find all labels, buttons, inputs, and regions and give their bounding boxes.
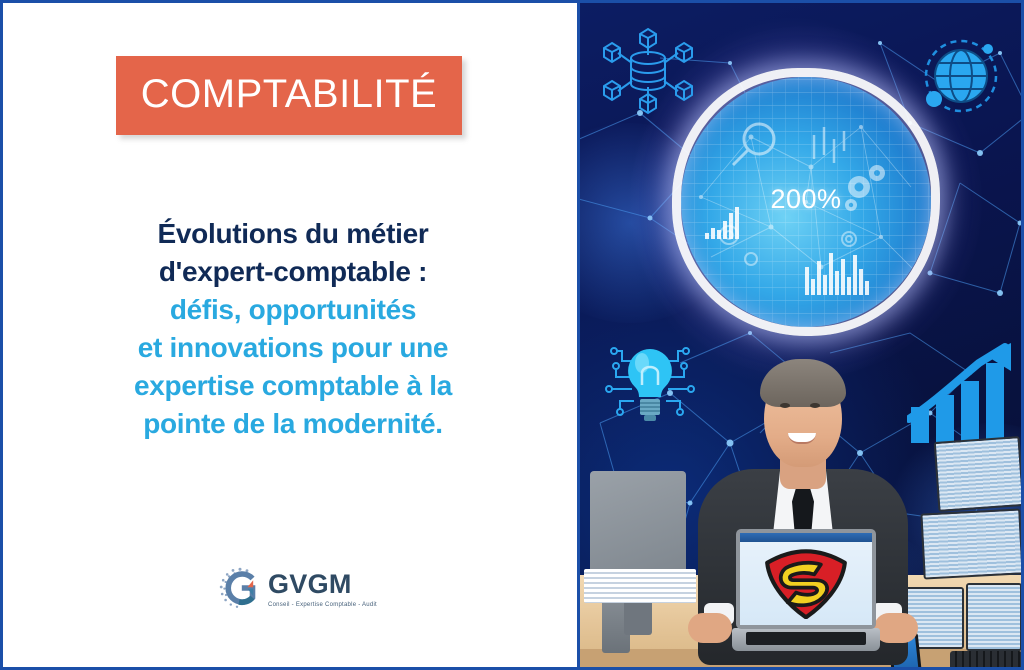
globe-world-icon — [920, 35, 1002, 117]
laptop-screen — [740, 533, 872, 625]
laptop-keyboard — [746, 632, 866, 645]
monitor-screen — [968, 585, 1020, 649]
globe-outer-ring — [672, 68, 940, 336]
glowing-data-globe-icon: 200% — [672, 68, 940, 336]
category-badge-label: COMPTABILITÉ — [141, 74, 437, 117]
logo-tagline: Conseil - Expertise Comptable - Audit — [268, 602, 377, 608]
headline-line-6: pointe de la modernité. — [43, 405, 543, 443]
hair — [760, 359, 846, 407]
desktop-monitor-right-1 — [934, 436, 1021, 512]
logo-wordmark: GVGM — [268, 571, 377, 598]
headline-line-2: d'expert-comptable : — [43, 253, 543, 291]
eye-right — [810, 403, 820, 408]
hand-right — [874, 613, 918, 643]
monitor-screen — [922, 511, 1021, 578]
headline-line-5: expertise comptable à la — [43, 367, 543, 405]
brand-logo: GVGM Conseil - Expertise Comptable - Aud… — [217, 561, 377, 615]
keyboard — [950, 651, 1021, 667]
laptop-lid — [736, 529, 876, 629]
eye-left — [780, 403, 790, 408]
page-title: Évolutions du métier d'expert-comptable … — [43, 215, 543, 443]
desktop-monitor-right-4 — [966, 583, 1021, 651]
hand-left — [688, 613, 732, 643]
headline-line-1: Évolutions du métier — [43, 215, 543, 253]
database-network-icon — [602, 25, 694, 117]
right-illustration-panel: 200% — [580, 3, 1021, 667]
category-badge: COMPTABILITÉ — [116, 56, 462, 135]
headline-line-4: et innovations pour une — [43, 329, 543, 367]
left-text-panel: COMPTABILITÉ Évolutions du métier d'expe… — [3, 3, 580, 667]
laptop-with-superman-logo — [732, 529, 880, 651]
stack-of-papers — [584, 569, 696, 603]
desktop-monitor-right-2 — [920, 508, 1021, 579]
browser-toolbar — [740, 533, 872, 542]
headline-line-3: défis, opportunités — [43, 291, 543, 329]
office-scene — [580, 333, 1021, 667]
circular-g-logo-icon — [217, 565, 263, 611]
logo-text-group: GVGM Conseil - Expertise Comptable - Aud… — [268, 569, 377, 608]
superman-shield-icon — [763, 543, 849, 619]
monitor-screen — [936, 438, 1021, 510]
promo-banner: COMPTABILITÉ Évolutions du métier d'expe… — [0, 0, 1024, 670]
